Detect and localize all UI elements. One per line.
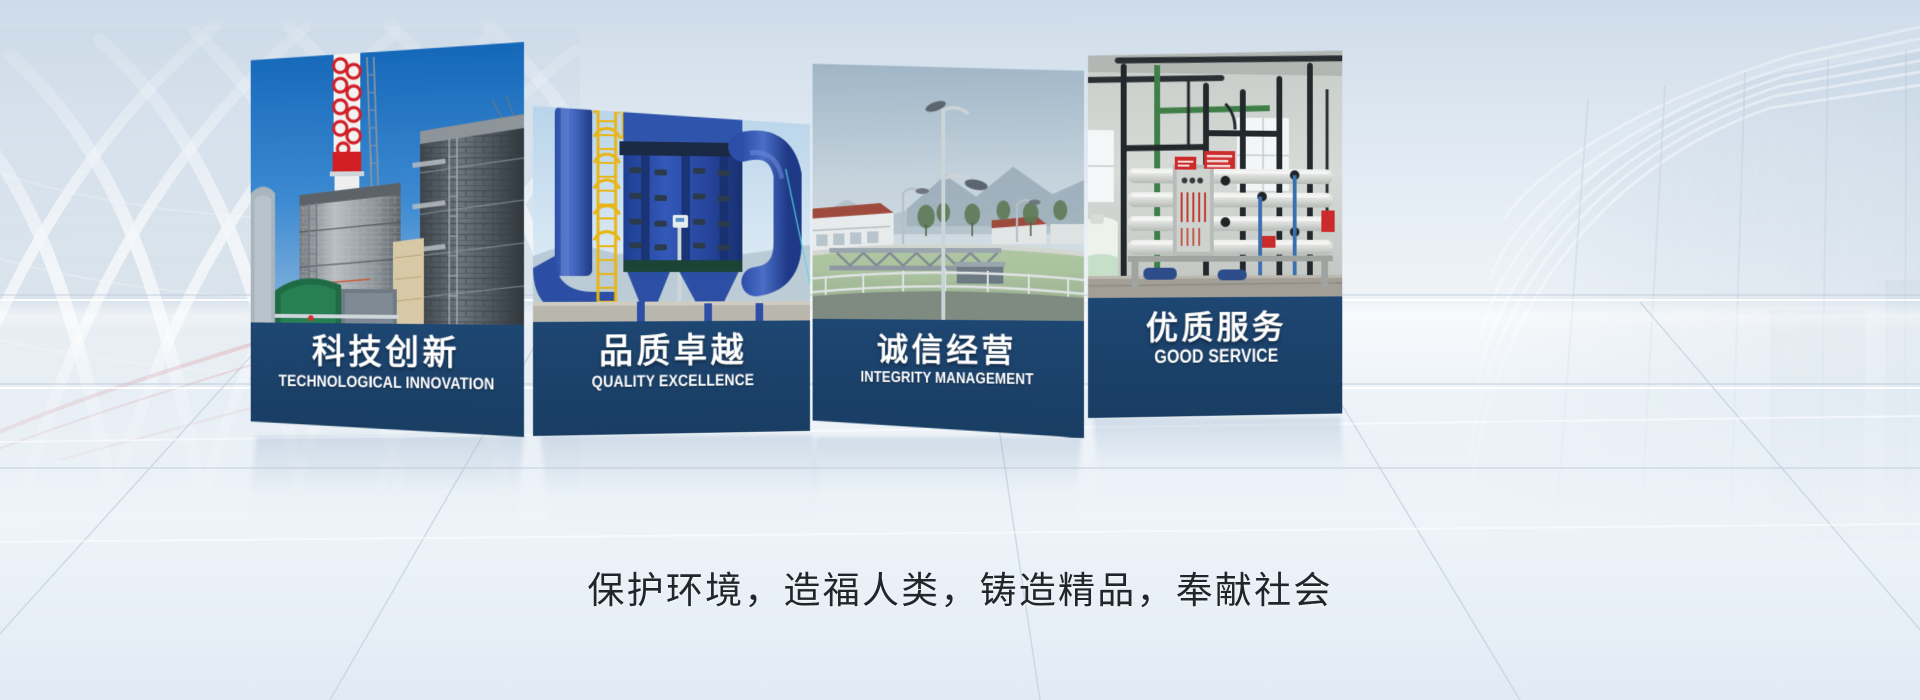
feature-card-good-service[interactable]: 优质服务 GOOD SERVICE bbox=[1088, 46, 1342, 418]
card-title-en: QUALITY EXCELLENCE bbox=[553, 371, 791, 392]
feature-card-technological-innovation[interactable]: 科技创新 TECHNOLOGICAL INNOVATION bbox=[251, 42, 524, 437]
card-title-en: TECHNOLOGICAL INNOVATION bbox=[269, 372, 504, 394]
banner-tagline: 保护环境，造福人类，铸造精品，奉献社会 bbox=[0, 560, 1920, 614]
hero-banner: 科技创新 TECHNOLOGICAL INNOVATION bbox=[0, 0, 1920, 700]
card-caption: 科技创新 TECHNOLOGICAL INNOVATION bbox=[251, 322, 524, 437]
card-title-en: INTEGRITY MANAGEMENT bbox=[831, 368, 1064, 389]
card-caption: 诚信经营 INTEGRITY MANAGEMENT bbox=[813, 319, 1084, 438]
card-title-cn: 优质服务 bbox=[1088, 302, 1342, 346]
power-plant-chimney-photo bbox=[251, 42, 524, 330]
wastewater-treatment-photo bbox=[813, 58, 1084, 321]
feature-card-integrity-management[interactable]: 诚信经营 INTEGRITY MANAGEMENT bbox=[813, 58, 1084, 438]
card-title-cn: 品质卓越 bbox=[533, 326, 810, 372]
reverse-osmosis-system-photo bbox=[1088, 46, 1342, 298]
card-title-cn: 科技创新 bbox=[251, 328, 524, 374]
dust-collector-photo bbox=[533, 106, 810, 322]
card-caption: 优质服务 GOOD SERVICE bbox=[1088, 296, 1342, 418]
card-title-cn: 诚信经营 bbox=[813, 325, 1084, 370]
card-title-en: GOOD SERVICE bbox=[1106, 346, 1325, 369]
feature-card-quality-excellence[interactable]: 品质卓越 QUALITY EXCELLENCE bbox=[533, 106, 810, 436]
card-caption: 品质卓越 QUALITY EXCELLENCE bbox=[533, 320, 810, 436]
